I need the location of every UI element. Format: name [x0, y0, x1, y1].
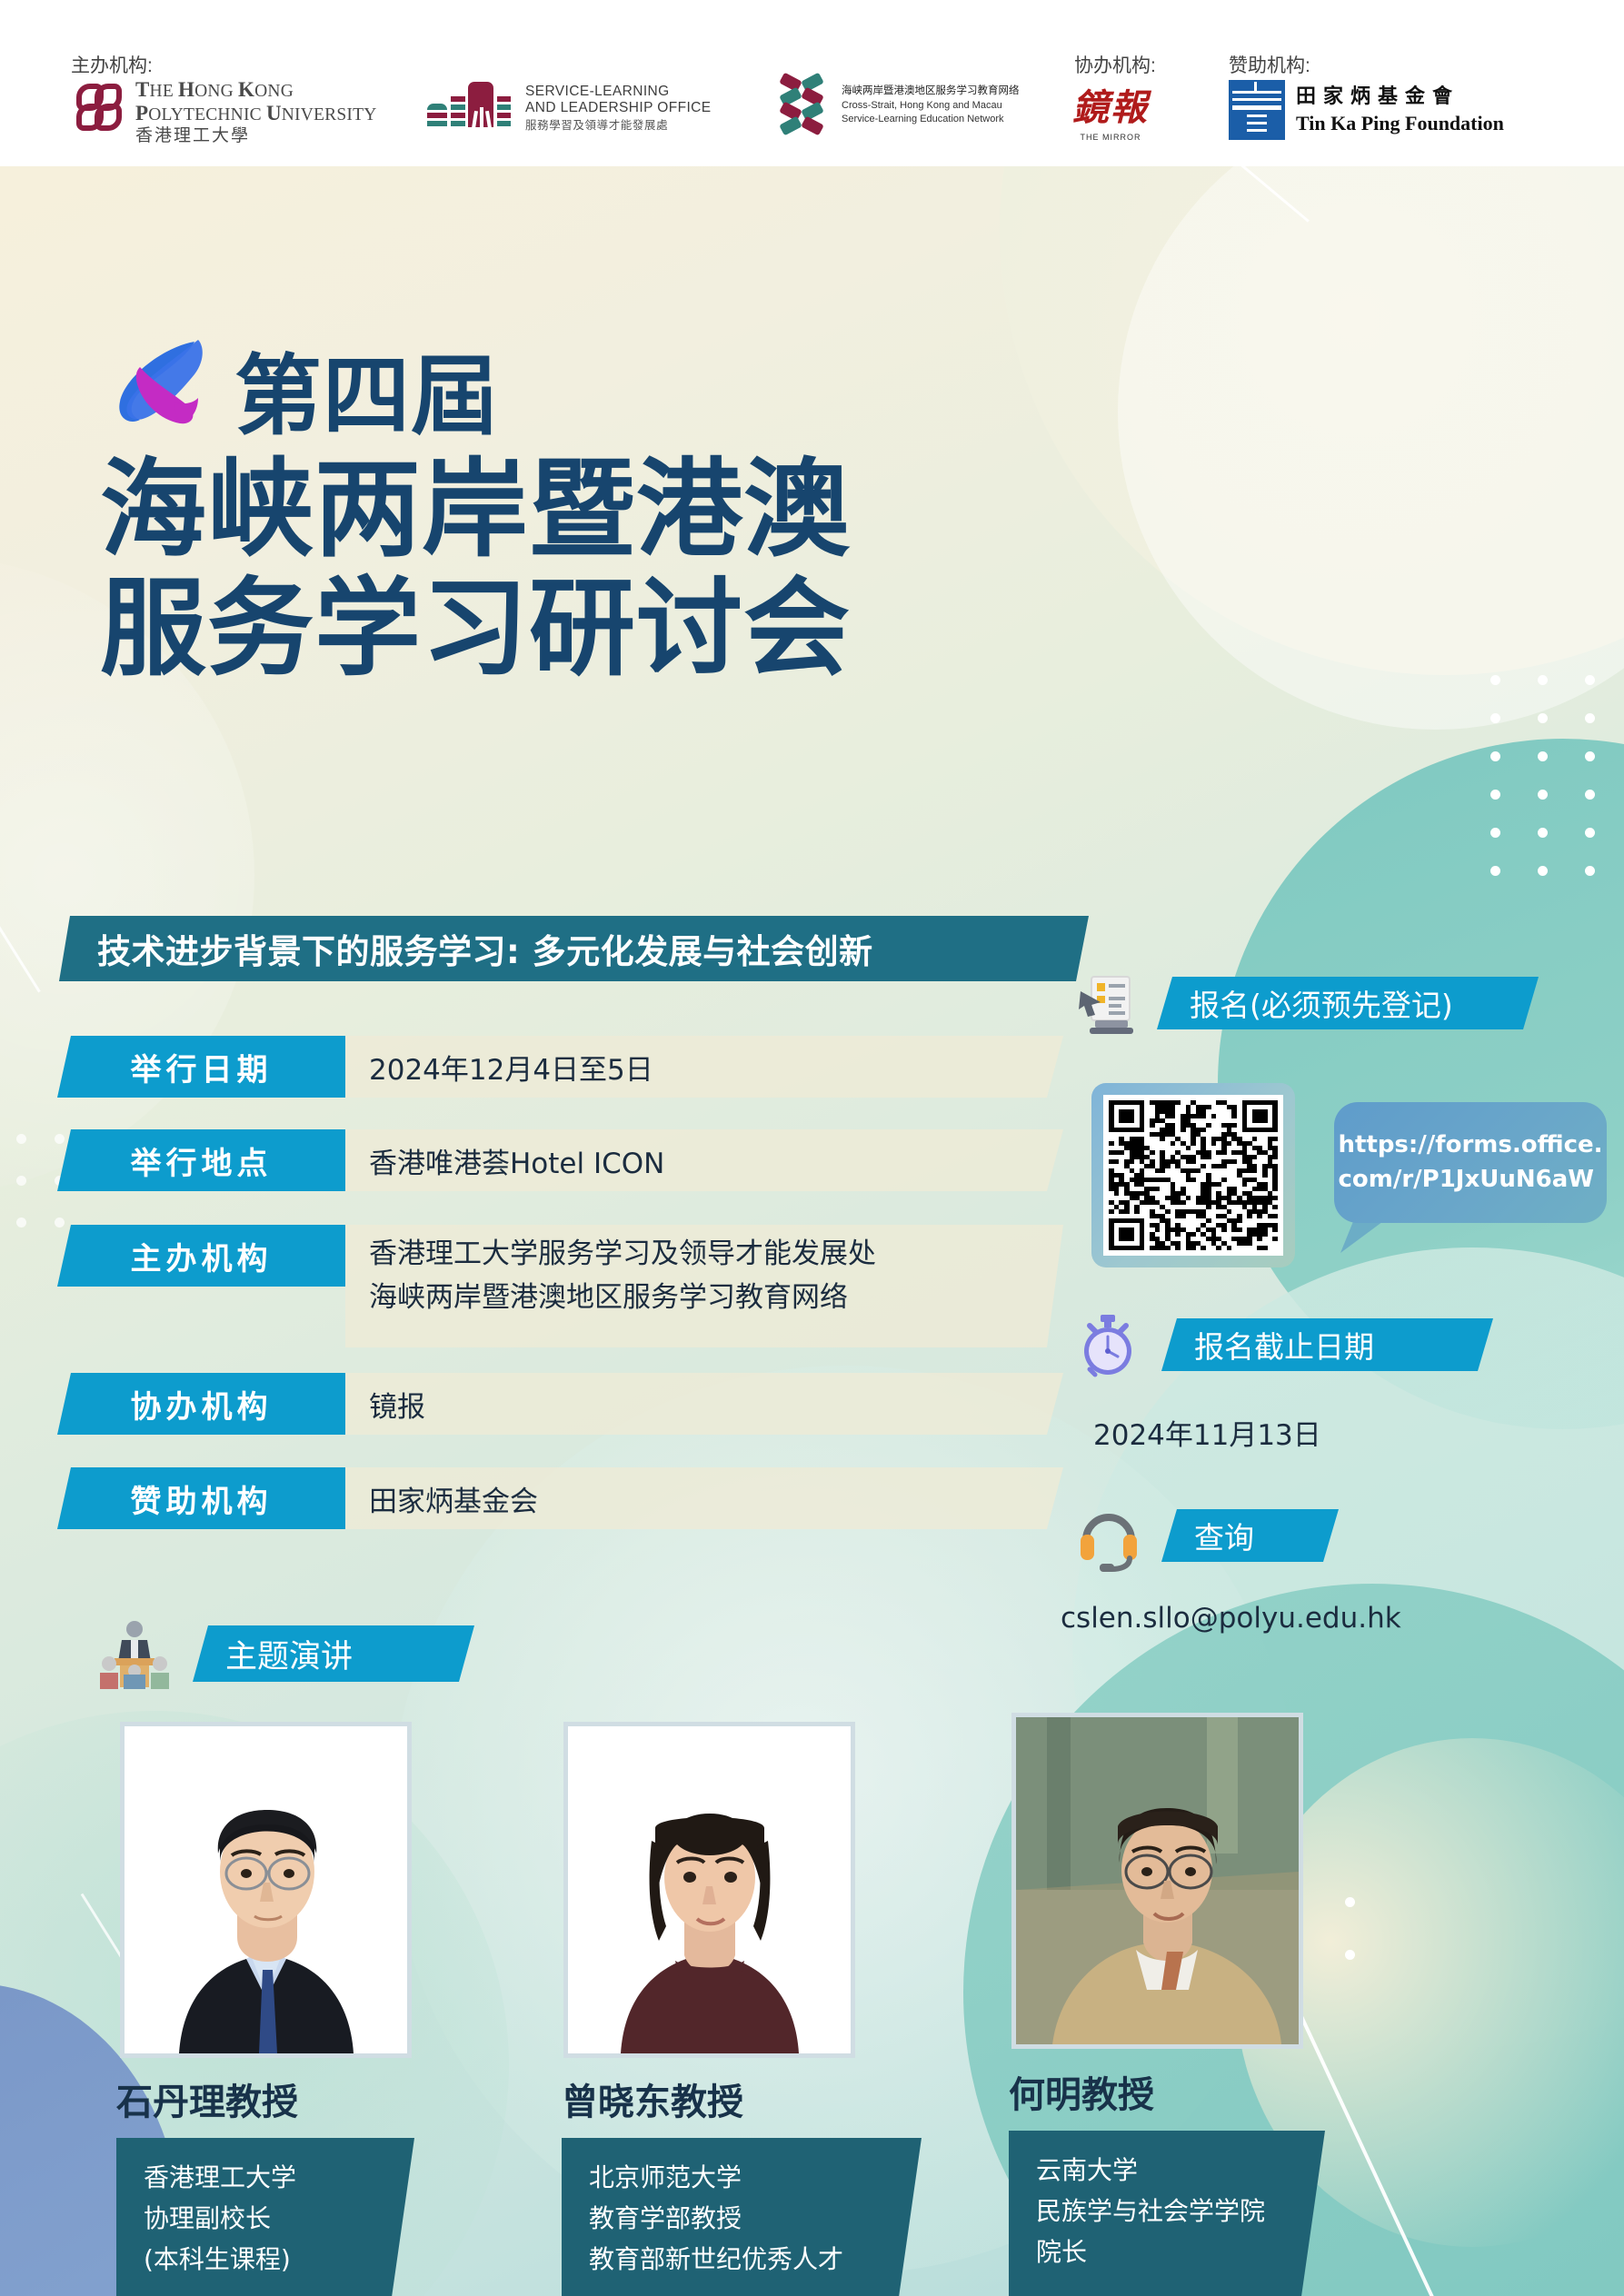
podium-speakers-icon: [98, 1620, 171, 1694]
speaker-2-affiliation-card: 北京师范大学 教育学部教授 教育部新世纪优秀人才: [562, 2138, 922, 2296]
polyu-logo: THE HONG KONG POLYTECHNIC UNIVERSITY 香港理…: [75, 78, 376, 145]
poster-canvas: 第四屆 海峡两岸暨港澳 服务学习研讨会 技术进步背景下的服务学习: 多元化发展与…: [0, 166, 1624, 2296]
deadline-heading: 报名截止日期: [1194, 1323, 1374, 1367]
network-zh: 海峡两岸暨港澳地区服务学习教育网络: [842, 84, 1020, 99]
subtitle-text: 技术进步背景下的服务学习: 多元化发展与社会创新: [97, 924, 873, 973]
registration-heading-band: 报名(必须预先登记): [1157, 977, 1539, 1029]
keynote-heading-band: 主题演讲: [193, 1625, 474, 1682]
mirror-en: THE MIRROR: [1072, 133, 1149, 142]
enquiry-heading: 查询: [1194, 1514, 1254, 1557]
sllo-logo: SERVICE-LEARNING AND LEADERSHIP OFFICE 服…: [427, 80, 712, 136]
stopwatch-icon: [1077, 1313, 1139, 1383]
network-en-line2: Service-Learning Education Network: [842, 113, 1020, 126]
tin-ka-ping-foundation-logo: 田家炳基金會 Tin Ka Ping Foundation: [1229, 80, 1504, 140]
coorganiser-label: 协办机构:: [1074, 51, 1156, 78]
bg-blob-white-right: [1118, 166, 1624, 730]
network-en-line1: Cross-Strait, Hong Kong and Macau: [842, 99, 1020, 113]
sllo-en-line2: AND LEADERSHIP OFFICE: [525, 100, 712, 116]
speaker-3-affiliation-card: 云南大学 民族学与社会学学院 院长: [1009, 2131, 1325, 2296]
registration-url-line1: https://forms.office.: [1338, 1131, 1602, 1158]
speaker-3-name: 何明教授: [1009, 2065, 1154, 2118]
enquiry-heading-band: 查询: [1161, 1509, 1339, 1562]
info-value-venue: 香港唯港荟Hotel ICON: [345, 1129, 1063, 1191]
tkp-zh: 田家炳基金會: [1296, 84, 1504, 108]
speaker-2-name: 曾晓东教授: [562, 2072, 743, 2125]
speaker-photo-1: [120, 1722, 412, 2058]
cross-strait-network-logo: 海峡两岸暨港澳地区服务学习教育网络 Cross-Strait, Hong Kon…: [777, 75, 1020, 136]
registration-url-bubble[interactable]: https://forms.office. com/r/P1JxUuN6aW: [1334, 1102, 1607, 1223]
enquiry-email[interactable]: cslen.sllo@polyu.edu.hk: [1061, 1602, 1401, 1635]
sllo-zh: 服務學習及領導才能發展處: [525, 119, 712, 133]
registration-url-line2: com/r/P1JxUuN6aW: [1338, 1166, 1593, 1193]
mirror-zh: 鏡報: [1072, 78, 1149, 131]
sponsor-logo-bar: 主办机构: 协办机构: 赞助机构: THE HONG KONG POLYTECH…: [0, 0, 1624, 166]
organiser-label: 主办机构:: [71, 51, 153, 78]
info-key-organiser: 主办机构: [57, 1225, 345, 1287]
registration-qr-code[interactable]: [1091, 1083, 1295, 1267]
speaker-1-name: 石丹理教授: [116, 2072, 298, 2125]
headset-icon: [1077, 1504, 1141, 1577]
info-key-sponsor: 赞助机构: [57, 1467, 345, 1529]
speaker-photo-2: [563, 1722, 855, 2058]
polyu-logo-zh: 香港理工大學: [135, 126, 376, 145]
main-title-line2: 服务学习研讨会: [100, 542, 851, 696]
info-value-date: 2024年12月4日至5日: [345, 1036, 1063, 1098]
sllo-en-line1: SERVICE-LEARNING: [525, 84, 712, 100]
speaker-1-affiliation-card: 香港理工大学 协理副校长 (本科生课程): [116, 2138, 414, 2296]
sponsor-label: 赞助机构:: [1229, 51, 1310, 78]
polyu-emblem-icon: [75, 80, 127, 144]
info-key-date: 举行日期: [57, 1036, 345, 1098]
info-value-organiser: 香港理工大学服务学习及领导才能发展处 海峡两岸暨港澳地区服务学习教育网络: [345, 1225, 1063, 1347]
info-value-coorganiser: 镜报: [345, 1373, 1063, 1435]
keynote-heading: 主题演讲: [225, 1631, 353, 1677]
info-key-venue: 举行地点: [57, 1129, 345, 1191]
tkp-en: Tin Ka Ping Foundation: [1296, 112, 1504, 135]
info-value-sponsor: 田家炳基金会: [345, 1467, 1063, 1529]
registration-heading: 报名(必须预先登记): [1190, 981, 1453, 1025]
the-mirror-logo: 鏡報 THE MIRROR: [1072, 78, 1149, 142]
sllo-emblem-icon: [427, 80, 518, 136]
deadline-heading-band: 报名截止日期: [1161, 1318, 1493, 1371]
subtitle-ribbon: 技术进步背景下的服务学习: 多元化发展与社会创新: [59, 916, 1089, 981]
form-monitor-icon: [1079, 975, 1139, 1045]
network-emblem-icon: [777, 75, 833, 136]
swirl-brand-icon: [107, 334, 214, 430]
speaker-photo-3: [1011, 1713, 1303, 2049]
info-key-coorganiser: 协办机构: [57, 1373, 345, 1435]
deadline-date: 2024年11月13日: [1093, 1412, 1321, 1453]
tkp-emblem-icon: [1229, 80, 1285, 140]
